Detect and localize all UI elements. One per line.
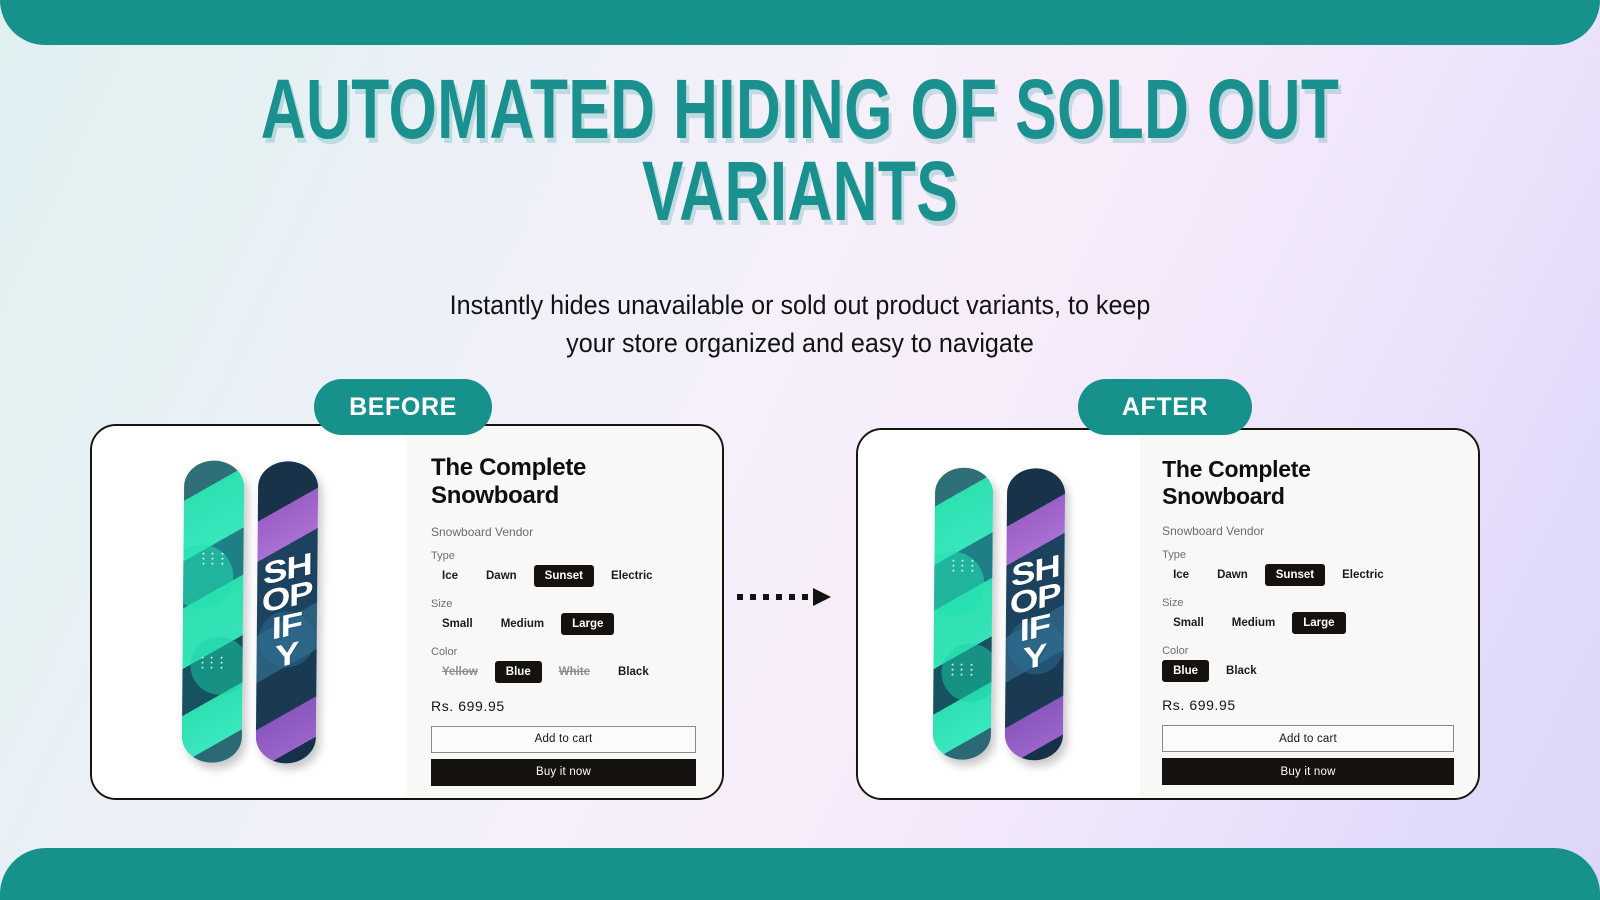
snowboard-pair-image: SH OP IF Y xyxy=(933,467,1066,760)
snowboard-teal-icon xyxy=(181,460,244,763)
variant-chip-white[interactable]: White xyxy=(548,661,601,683)
bottom-teal-bar xyxy=(0,848,1600,900)
buy-it-now-button[interactable]: Buy it now xyxy=(1162,758,1454,785)
binding-holes-bottom-icon xyxy=(952,664,974,676)
product-title-line-1: The Complete xyxy=(1162,456,1362,483)
variant-chip-blue[interactable]: Blue xyxy=(495,661,542,683)
variant-chip-ice[interactable]: Ice xyxy=(431,565,469,587)
option-label-size: Size xyxy=(1162,597,1454,609)
variant-chip-electric[interactable]: Electric xyxy=(600,565,664,587)
product-title-line-1: The Complete xyxy=(431,454,631,482)
add-to-cart-button[interactable]: Add to cart xyxy=(1162,725,1454,752)
product-title: The Complete Snowboard xyxy=(1162,456,1362,510)
snowboard-shopify-icon: SH OP IF Y xyxy=(1005,468,1066,760)
board-text-line-4: Y xyxy=(1023,640,1047,674)
binding-holes-top-icon xyxy=(952,560,974,572)
after-product-card: SH OP IF Y The Complete Snowboard Snowbo… xyxy=(856,428,1480,800)
variant-chip-large[interactable]: Large xyxy=(1292,612,1345,634)
variant-chip-blue[interactable]: Blue xyxy=(1162,660,1209,682)
buy-it-now-button[interactable]: Buy it now xyxy=(431,759,696,786)
variant-chip-sunset[interactable]: Sunset xyxy=(534,565,594,587)
product-details-panel: The Complete Snowboard Snowboard Vendor … xyxy=(407,426,722,798)
add-to-cart-button[interactable]: Add to cart xyxy=(431,726,696,753)
binding-holes-bottom-icon xyxy=(201,657,223,669)
product-price: Rs. 699.95 xyxy=(1162,697,1454,713)
snowboard-brand-text: SH OP IF Y xyxy=(1005,468,1066,760)
variant-chip-dawn[interactable]: Dawn xyxy=(1206,564,1259,586)
variant-chip-small[interactable]: Small xyxy=(431,613,484,635)
option-groups: TypeIceDawnSunsetElectricSizeSmallMedium… xyxy=(1162,549,1454,682)
variant-chip-black[interactable]: Black xyxy=(1215,660,1268,682)
subtitle-line-2: your store organized and easy to navigat… xyxy=(56,324,1544,362)
top-teal-bar xyxy=(0,0,1600,45)
option-row-color: YellowBlueWhiteBlack xyxy=(431,661,696,683)
option-label-color: Color xyxy=(431,646,696,658)
variant-chip-medium[interactable]: Medium xyxy=(1221,612,1286,634)
option-label-type: Type xyxy=(1162,549,1454,561)
variant-chip-electric[interactable]: Electric xyxy=(1331,564,1395,586)
product-title: The Complete Snowboard xyxy=(431,454,631,511)
product-title-line-2: Snowboard xyxy=(431,482,631,510)
product-title-line-2: Snowboard xyxy=(1162,483,1362,510)
before-product-card: SH OP IF Y The Complete Snowboard Snowbo… xyxy=(90,424,724,800)
snowboard-pair-image: SH OP IF Y xyxy=(181,460,318,763)
variant-chip-black[interactable]: Black xyxy=(607,661,660,683)
product-vendor: Snowboard Vendor xyxy=(431,525,696,539)
option-label-type: Type xyxy=(431,550,696,562)
option-row-size: SmallMediumLarge xyxy=(431,613,696,635)
option-groups: TypeIceDawnSunsetElectricSizeSmallMedium… xyxy=(431,550,696,683)
badge-before: BEFORE xyxy=(314,379,492,435)
snowboard-shopify-icon: SH OP IF Y xyxy=(255,461,318,764)
option-row-type: IceDawnSunsetElectric xyxy=(1162,564,1454,586)
option-row-type: IceDawnSunsetElectric xyxy=(431,565,696,587)
dashed-arrow-right-icon xyxy=(735,584,835,610)
snowboard-brand-text: SH OP IF Y xyxy=(255,461,318,764)
snowboard-teal-icon xyxy=(933,467,994,759)
variant-chip-ice[interactable]: Ice xyxy=(1162,564,1200,586)
binding-holes-top-icon xyxy=(202,553,224,565)
variant-chip-sunset[interactable]: Sunset xyxy=(1265,564,1325,586)
product-image-area: SH OP IF Y xyxy=(858,430,1140,798)
option-row-color: BlueBlack xyxy=(1162,660,1454,682)
option-label-color: Color xyxy=(1162,645,1454,657)
board-text-line-4: Y xyxy=(274,638,298,672)
product-image-area: SH OP IF Y xyxy=(92,426,407,798)
product-vendor: Snowboard Vendor xyxy=(1162,524,1454,538)
variant-chip-dawn[interactable]: Dawn xyxy=(475,565,528,587)
product-price: Rs. 699.95 xyxy=(431,698,696,714)
page-title: AUTOMATED HIDING OF SOLD OUT VARIANTS xyxy=(208,68,1392,233)
option-row-size: SmallMediumLarge xyxy=(1162,612,1454,634)
badge-after: AFTER xyxy=(1078,379,1252,435)
option-label-size: Size xyxy=(431,598,696,610)
product-details-panel: The Complete Snowboard Snowboard Vendor … xyxy=(1140,430,1478,798)
page-subtitle: Instantly hides unavailable or sold out … xyxy=(56,286,1544,363)
variant-chip-large[interactable]: Large xyxy=(561,613,614,635)
variant-chip-small[interactable]: Small xyxy=(1162,612,1215,634)
variant-chip-yellow[interactable]: Yellow xyxy=(431,661,489,683)
variant-chip-medium[interactable]: Medium xyxy=(490,613,555,635)
subtitle-line-1: Instantly hides unavailable or sold out … xyxy=(56,286,1544,324)
